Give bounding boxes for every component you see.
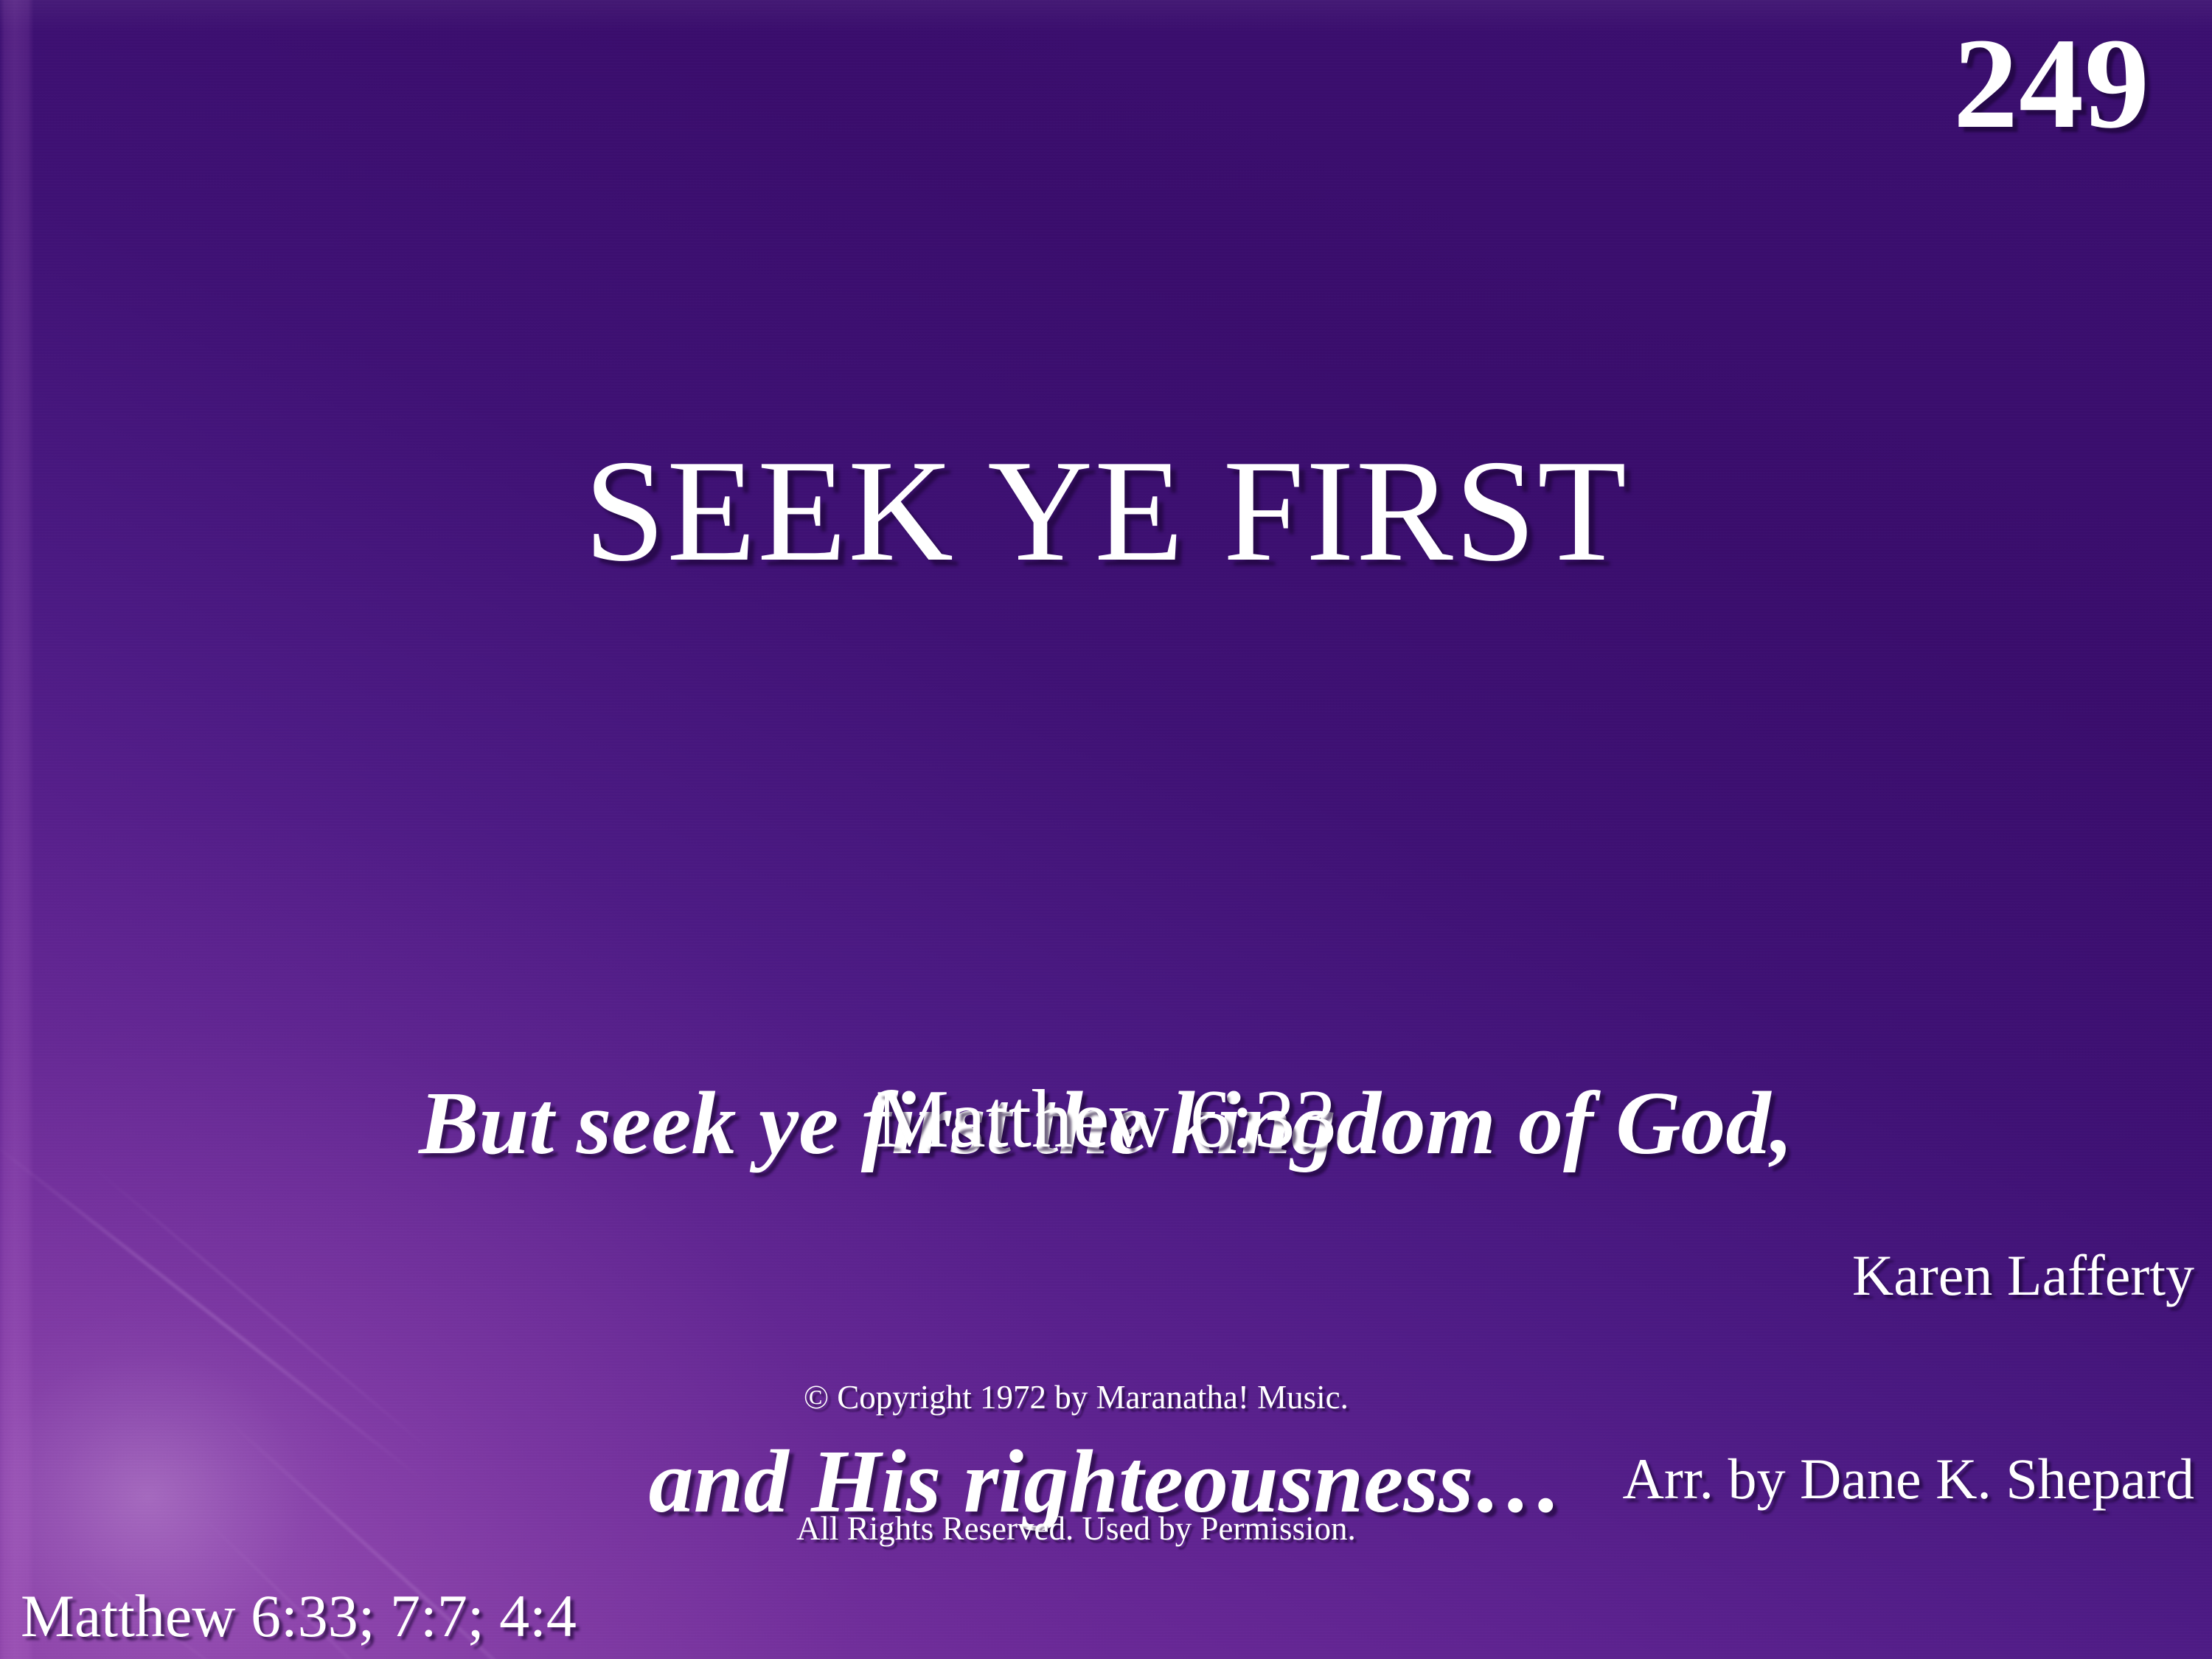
footer-scripture-list: Matthew 6:33; 7:7; 4:4 — [21, 1585, 577, 1647]
footer-copyright: © Copyright 1972 by Maranatha! Music. Al… — [796, 1288, 1356, 1638]
credit-author: Karen Lafferty — [1623, 1242, 2194, 1310]
hymn-number: 249 — [1953, 16, 2150, 151]
footer-credits: Karen Lafferty Arr. by Dane K. Shepard — [1623, 1106, 2194, 1649]
copyright-line-2: All Rights Reserved. Used by Permission. — [796, 1507, 1356, 1551]
slide-title: SEEK YE FIRST — [0, 435, 2212, 587]
credit-arranger: Arr. by Dane K. Shepard — [1623, 1445, 2194, 1513]
background-top-band — [0, 0, 2212, 32]
copyright-line-1: © Copyright 1972 by Maranatha! Music. — [796, 1376, 1356, 1419]
hymn-slide: 249 SEEK YE FIRST But seek ye first the … — [0, 0, 2212, 1659]
